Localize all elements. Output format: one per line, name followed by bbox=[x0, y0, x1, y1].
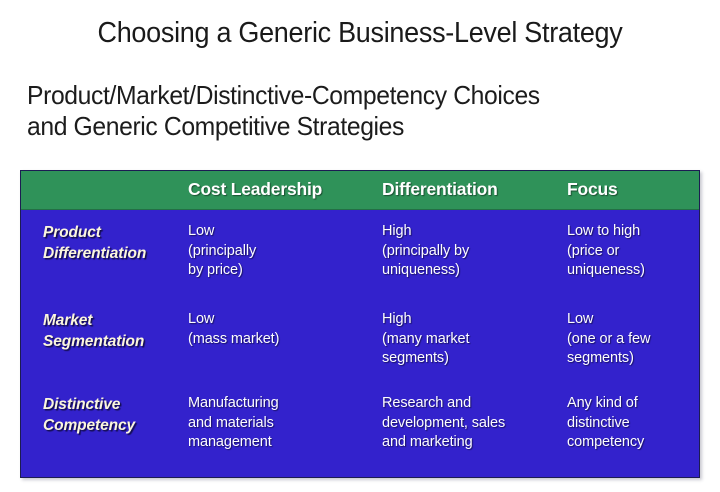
subtitle-line-2: and Generic Competitive Strategies bbox=[27, 111, 665, 142]
column-header-cost-leadership: Cost Leadership bbox=[188, 179, 322, 200]
cell-distinctive-competency-differentiation: Research and development, sales and mark… bbox=[382, 394, 564, 453]
table-body: Product Differentiation Low (principally… bbox=[21, 210, 699, 477]
cell-product-differentiation-focus: Low to high (price or uniqueness) bbox=[567, 222, 707, 281]
cell-market-segmentation-focus: Low (one or a few segments) bbox=[567, 310, 707, 369]
column-header-differentiation: Differentiation bbox=[382, 179, 498, 200]
cell-distinctive-competency-focus: Any kind of distinctive competency bbox=[567, 394, 707, 453]
column-header-focus: Focus bbox=[567, 179, 618, 200]
title-block: Choosing a Generic Business-Level Strate… bbox=[0, 16, 720, 50]
table-row: Distinctive Competency Manufacturing and… bbox=[21, 382, 699, 477]
row-label-distinctive-competency: Distinctive Competency bbox=[43, 394, 193, 436]
subtitle-line-1: Product/Market/Distinctive-Competency Ch… bbox=[27, 80, 665, 111]
cell-market-segmentation-cost-leadership: Low (mass market) bbox=[188, 310, 374, 349]
row-label-product-differentiation: Product Differentiation bbox=[43, 222, 193, 264]
slide-canvas: Choosing a Generic Business-Level Strate… bbox=[0, 0, 720, 492]
cell-product-differentiation-differentiation: High (principally by uniqueness) bbox=[382, 222, 564, 281]
cell-distinctive-competency-cost-leadership: Manufacturing and materials management bbox=[188, 394, 374, 453]
cell-product-differentiation-cost-leadership: Low (principally by price) bbox=[188, 222, 374, 281]
page-title: Choosing a Generic Business-Level Strate… bbox=[25, 16, 695, 50]
cell-market-segmentation-differentiation: High (many market segments) bbox=[382, 310, 564, 369]
subtitle-block: Product/Market/Distinctive-Competency Ch… bbox=[27, 80, 699, 142]
table-row: Market Segmentation Low (mass market) Hi… bbox=[21, 298, 699, 382]
table-header-row: Cost Leadership Differentiation Focus bbox=[21, 171, 699, 210]
strategy-matrix-table: Cost Leadership Differentiation Focus Pr… bbox=[20, 170, 700, 478]
row-label-market-segmentation: Market Segmentation bbox=[43, 310, 193, 352]
table-row: Product Differentiation Low (principally… bbox=[21, 210, 699, 298]
